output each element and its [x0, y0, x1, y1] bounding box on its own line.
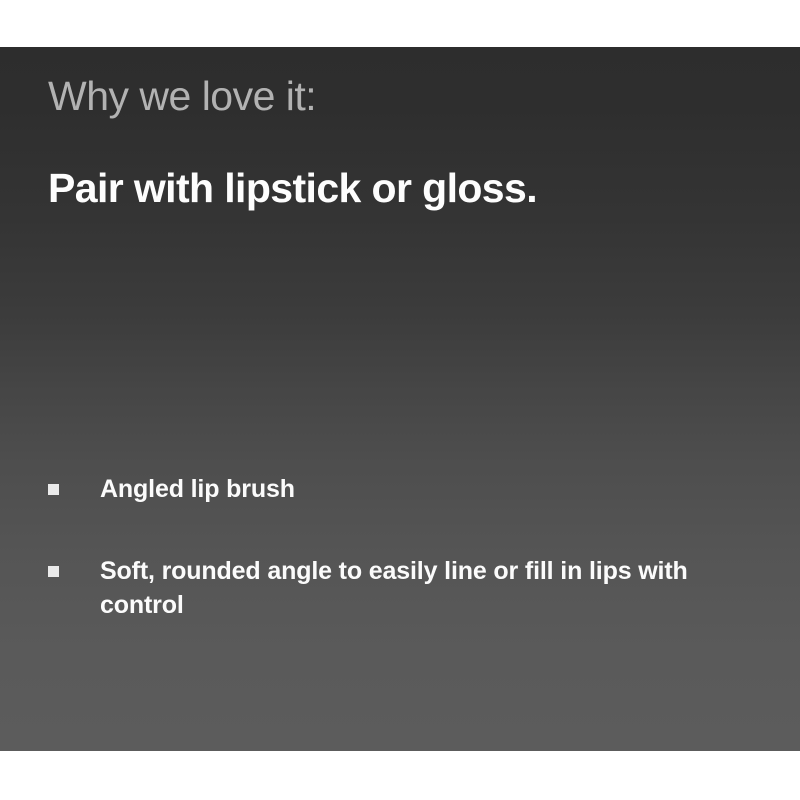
eyebrow-heading: Why we love it:: [48, 75, 316, 118]
square-bullet-icon: [48, 484, 59, 495]
feature-bullet-list: Angled lip brush Soft, rounded angle to …: [48, 472, 748, 622]
square-bullet-icon: [48, 566, 59, 577]
list-item: Soft, rounded angle to easily line or fi…: [48, 554, 748, 622]
page-title: Pair with lipstick or gloss.: [48, 166, 537, 210]
list-item-label: Soft, rounded angle to easily line or fi…: [100, 554, 740, 622]
content-panel: Why we love it: Pair with lipstick or gl…: [0, 47, 800, 751]
list-item-label: Angled lip brush: [100, 472, 740, 506]
list-item: Angled lip brush: [48, 472, 748, 506]
slide-canvas: Why we love it: Pair with lipstick or gl…: [0, 0, 800, 800]
panel-inner: Why we love it: Pair with lipstick or gl…: [0, 47, 800, 751]
